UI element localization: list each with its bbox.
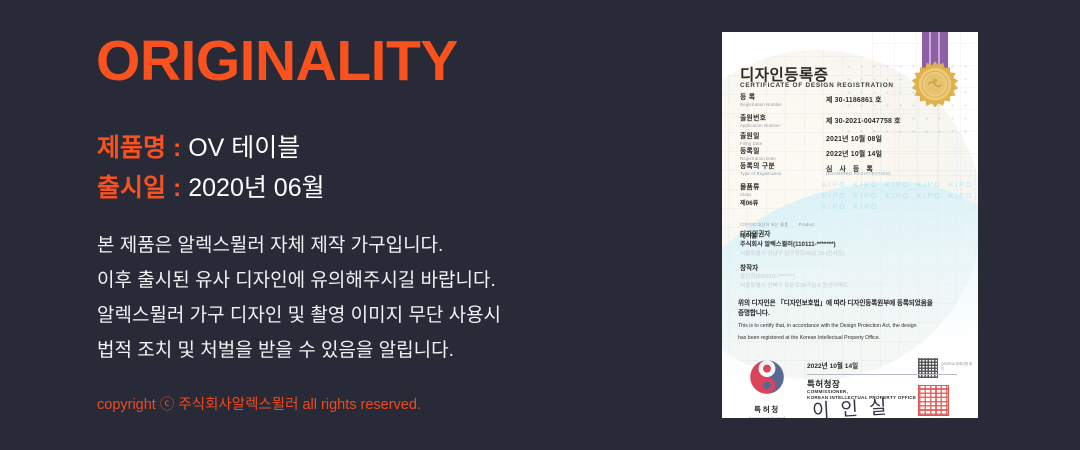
product-label-ko: 디자인의 대상이 되는 물품 [740,222,788,227]
notice-line: 법적 조치 및 처벌을 받을 수 있음을 알립니다. [97,333,501,368]
owner-address: 서울특별시 강남구 압구정로48길 33 (신사동) [740,250,965,259]
creator-name: 홍민희(660601-*******) [740,273,965,282]
certify-en-line: This is to certify that, in accordance w… [738,322,966,331]
red-official-seal-stamp [918,385,949,416]
owner-name: 주식회사 알렉스뮐러(110111-*******) [740,240,965,250]
field-filing-date: 출원일 Filing Date 2021년 10월 08일 [740,133,962,147]
kipo-emblem-label-ko: 특허청 [736,404,798,415]
field-registration-date: 등록일 Registration Date 2022년 10월 14일 [740,148,962,162]
product-label-en: Product [799,222,815,227]
product-info-block: 제품명 : OV 테이블 출시일 : 2020년 06월 [97,128,325,208]
field-value: 2021년 10월 08일 [826,133,882,143]
release-date-label: 출시일 : [97,174,181,202]
taegeuk-icon [747,357,787,397]
notice-line: 알렉스뮐러 가구 디자인 및 촬영 이미지 무단 사용시 [97,298,501,333]
field-class: 물품류 Class [740,184,962,198]
divider [807,374,957,375]
notice-line: 본 제품은 알렉스뮐러 자체 제작 가구입니다. [97,228,501,263]
field-value-en: (EXAMINED REGISTRATION) [826,171,891,176]
notice-line: 이후 출시된 유사 디자인에 유의해주시길 바랍니다. [97,263,501,298]
certify-ko-line: 증명합니다. [738,309,966,319]
field-registration-number: 등 록 Registration Number 제 30-1186861 호 [740,94,962,114]
qr-code-icon [918,358,938,378]
signature-date: 2022년 10월 14일 [807,360,858,370]
field-application-number: 출원번호 Application Number 제 30-2021-004775… [740,115,962,132]
field-value: 2022년 10월 14일 [826,148,882,158]
release-date-value: 2020년 06월 [188,174,324,202]
certificate-title-en: CERTIFICATE OF DESIGN REGISTRATION [740,82,894,89]
field-value: 제 30-1186861 호 [826,94,882,104]
release-date-row: 출시일 : 2020년 06월 [97,168,325,208]
kipo-emblem-label-en-1: Korean Intellectual [736,416,798,418]
class-value: 제06류 [740,199,962,209]
qr-note-text: QR코드로 등록사항 확인 [941,362,975,371]
field-type-of-registration: 등록의 구분 Type of Registration 심 사 등 록 (EXA… [740,163,962,183]
copyright-text: copyright ⓒ 주식회사알렉스뮐러 all rights reserve… [97,393,421,414]
handwritten-signature: 이인실 [811,392,898,418]
product-name-label: 제품명 : [97,134,181,162]
field-value: 제 30-2021-0047758 호 [826,115,901,125]
product-name-row: 제품명 : OV 테이블 [97,128,325,168]
owner-block: 디자인권자 주식회사 알렉스뮐러(110111-*******) 서울특별시 강… [740,230,965,259]
registration-fields: 등 록 Registration Number 제 30-1186861 호 출… [740,94,962,242]
creator-block: 창작자 홍민희(660601-*******) 서울특별시 성북구 보문로38가… [740,264,965,291]
product-name-value: OV 테이블 [188,134,300,162]
info-panel: ORIGINALITY 제품명 : OV 테이블 출시일 : 2020년 06월… [96,0,656,450]
certify-en-line: has been registered at the Korean Intell… [738,334,966,343]
field-label-ko: 물품류 [740,184,962,192]
legal-notice-block: 본 제품은 알렉스뮐러 자체 제작 가구입니다. 이후 출시된 유사 디자인에 … [97,228,501,368]
page-title: ORIGINALITY [96,33,458,90]
kipo-emblem-group: 특허청 Korean Intellectual Property Office [736,357,798,418]
field-label-en: Class [740,192,962,198]
certify-ko-line: 위의 디자인은 「디자인보호법」에 따라 디자인등록원부에 등록되었음을 [738,299,966,309]
owner-label-ko: 디자인권자 [740,230,965,239]
certification-statement: 위의 디자인은 「디자인보호법」에 따라 디자인등록원부에 등록되었음을 증명합… [738,299,966,342]
creator-address: 서울특별시 성북구 보문로38가길 6 동선아파트 [740,282,965,291]
creator-label-ko: 창작자 [740,264,965,273]
design-registration-certificate: KIPO KIPO KIPO KIPO KIPO KIPO KIPO KIPO … [722,32,978,418]
